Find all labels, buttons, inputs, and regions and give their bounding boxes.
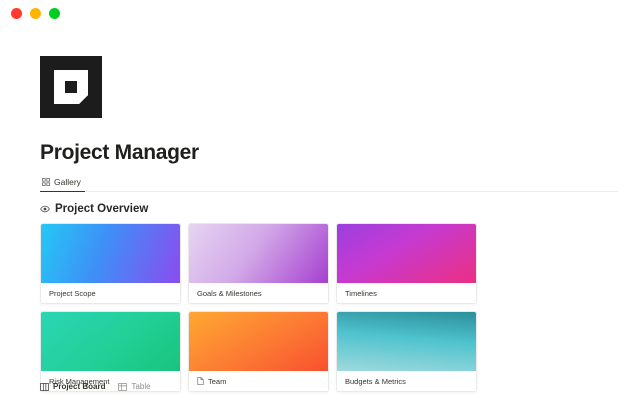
eye-icon (40, 204, 50, 214)
card-footer: Goals & Milestones (189, 283, 328, 303)
page-icon-core-shape (65, 81, 77, 93)
card-label: Goals & Milestones (197, 289, 262, 298)
page-title[interactable]: Project Manager (40, 141, 618, 165)
card-label: Team (208, 377, 226, 386)
card-cover-image (189, 312, 328, 371)
gallery-card[interactable]: Team (188, 311, 329, 392)
footer-tab-project-board[interactable]: Project Board (40, 382, 105, 391)
traffic-light-controls (11, 8, 60, 19)
close-window-button[interactable] (11, 8, 22, 19)
card-cover-image (41, 312, 180, 371)
view-tab-bar: Gallery (40, 173, 618, 192)
table-icon (118, 383, 127, 391)
card-cover-image (41, 224, 180, 283)
page-content: Project Manager Gallery (0, 26, 640, 400)
card-label: Budgets & Metrics (345, 377, 406, 386)
view-tab-gallery-label: Gallery (54, 177, 81, 187)
gallery-card[interactable]: Goals & Milestones (188, 223, 329, 304)
gallery-grid: Project Scope Goals & Milestones Timelin… (40, 223, 618, 392)
page-icon[interactable] (40, 56, 102, 118)
gallery-card[interactable]: Project Scope (40, 223, 181, 304)
gallery-card[interactable]: Budgets & Metrics (336, 311, 477, 392)
view-tab-gallery[interactable]: Gallery (40, 177, 85, 192)
card-footer: Project Scope (41, 283, 180, 303)
maximize-window-button[interactable] (49, 8, 60, 19)
card-label: Project Scope (49, 289, 96, 298)
app-window: Project Manager Gallery (0, 0, 640, 400)
board-icon (40, 383, 49, 391)
card-footer: Budgets & Metrics (337, 371, 476, 391)
card-cover-image (337, 224, 476, 283)
section-header: Project Overview (40, 203, 618, 215)
card-label: Timelines (345, 289, 377, 298)
document-icon (197, 377, 204, 385)
footer-tab-table[interactable]: Table (118, 382, 150, 391)
minimize-window-button[interactable] (30, 8, 41, 19)
gallery-grid-icon (42, 178, 50, 186)
card-footer: Timelines (337, 283, 476, 303)
footer-tab-label: Table (131, 382, 150, 391)
window-titlebar (0, 0, 640, 26)
card-cover-image (337, 312, 476, 371)
card-footer: Team (189, 371, 328, 391)
section-title: Project Overview (55, 203, 148, 215)
footer-tab-label: Project Board (53, 382, 105, 391)
footer-tab-bar: Project Board Table (40, 382, 151, 391)
gallery-card[interactable]: Risk Management (40, 311, 181, 392)
gallery-card[interactable]: Timelines (336, 223, 477, 304)
card-cover-image (189, 224, 328, 283)
